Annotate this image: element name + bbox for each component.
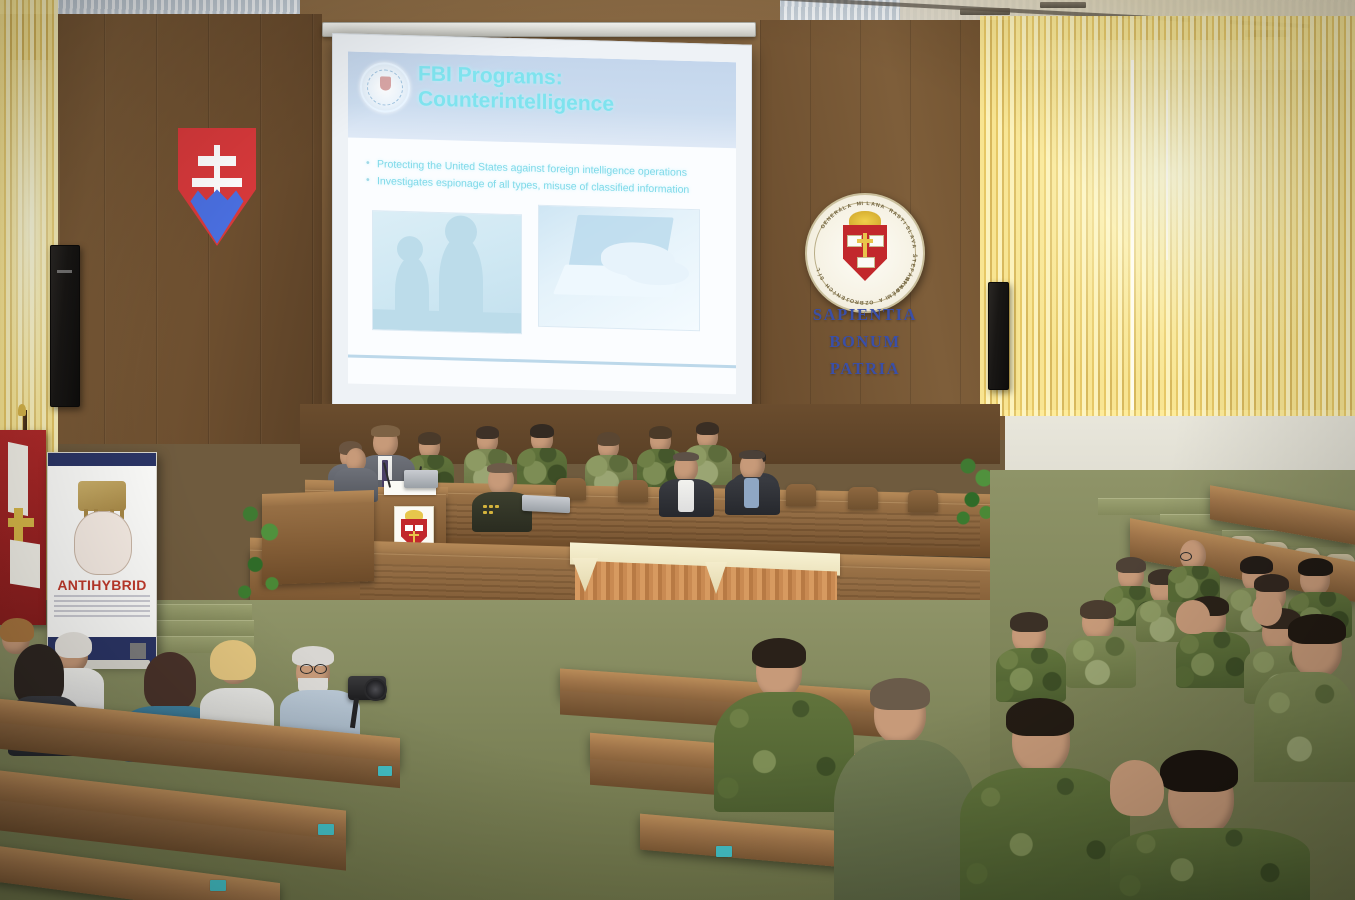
person-torso (1176, 632, 1250, 688)
blind-seam (1166, 90, 1168, 260)
seal-ring-text: AKADÉMIA OZBROJENÝCH SÍL (807, 195, 923, 311)
banner-subtext-lines (54, 595, 150, 617)
panel-chair[interactable] (848, 487, 878, 509)
person-hair (739, 450, 765, 459)
seat-number-tag (210, 880, 226, 891)
slide-image-meeting (372, 210, 522, 334)
person-hair (649, 426, 672, 439)
motto-line-3: PATRIA (785, 359, 945, 379)
podium-laptop[interactable] (404, 470, 438, 488)
slide-footer-rule (348, 354, 736, 368)
person-hair (597, 432, 620, 446)
person-torso (714, 692, 854, 812)
person-torso (960, 768, 1130, 900)
person-hair (870, 678, 930, 710)
slide-bullet-list: Protecting the United States against for… (364, 156, 724, 200)
person-hair (14, 644, 64, 704)
slide-image-laptop (538, 205, 700, 332)
soldier-head-illustration (74, 511, 132, 575)
panel-chair[interactable] (618, 480, 648, 502)
person-hair (1010, 612, 1048, 632)
person-torso (1110, 828, 1310, 900)
slovak-coat-of-arms (178, 128, 256, 246)
person-hand (1252, 594, 1282, 626)
person-hair (1298, 558, 1333, 576)
ivy-plant-left (236, 490, 284, 610)
uniform-medal (489, 511, 493, 514)
motto-line-1: SAPIENTIA (785, 305, 945, 325)
academy-motto: SAPIENTIA BONUM PATRIA (785, 305, 945, 379)
person-hair (55, 632, 92, 658)
uniform-medal (483, 505, 487, 508)
person-hair (1254, 574, 1289, 592)
person-hair (144, 652, 196, 710)
stair-step (156, 604, 252, 621)
person-hand (1176, 600, 1210, 634)
stair-step (1098, 498, 1218, 515)
person-hair (418, 432, 441, 445)
person-hair (673, 452, 699, 461)
antihybrid-banner: ANTIHYBRID (47, 452, 157, 664)
panel-chair[interactable] (908, 490, 938, 512)
person-torso (1066, 636, 1136, 688)
person-hair (1006, 698, 1074, 736)
person-hair (1116, 557, 1146, 573)
person-torso (1254, 672, 1355, 782)
academy-ceremonial-flag (0, 430, 46, 625)
speaker-brand-logo (57, 270, 72, 273)
ceiling-vent (960, 8, 1010, 15)
uniform-medal (483, 511, 487, 514)
person-torso (996, 648, 1066, 702)
uniform-medal (489, 505, 493, 508)
glasses-icon (1180, 552, 1192, 561)
wall-speaker-right (988, 282, 1009, 390)
motto-line-2: BONUM (785, 332, 945, 352)
person-hair (1160, 750, 1238, 792)
glasses-icon (300, 664, 313, 674)
person-hair (696, 422, 719, 435)
panel-chair[interactable] (786, 484, 816, 506)
person-hair (210, 640, 256, 680)
person-hand (1110, 760, 1164, 816)
ceiling-vent (1040, 2, 1086, 8)
slide-title: FBI Programs: Counterintelligence (418, 61, 728, 120)
person-hair (0, 618, 34, 642)
fbi-seal-icon (360, 62, 410, 113)
wall-speaker-left (50, 245, 80, 407)
person-hair (1240, 556, 1273, 574)
projection-screen: FBI Programs: Counterintelligence Protec… (332, 33, 752, 419)
banner-logo-block (130, 643, 146, 659)
seat-number-tag (318, 824, 334, 835)
person-hair (371, 425, 400, 437)
person-shirt (744, 478, 759, 508)
person-hair (1288, 614, 1346, 644)
person-hair (487, 463, 515, 473)
seat-number-tag (716, 846, 732, 857)
person-hair (476, 426, 499, 439)
person-hair (530, 424, 554, 438)
person-torso (834, 740, 974, 900)
dslr-camera[interactable] (348, 676, 386, 700)
banner-top-bar (48, 453, 156, 466)
person-hair (752, 638, 806, 668)
person-hair (1080, 600, 1116, 619)
seat-number-tag (378, 766, 392, 776)
presentation-slide: FBI Programs: Counterintelligence Protec… (348, 51, 736, 394)
trojan-horse-icon (78, 481, 126, 511)
uniform-medal (495, 505, 499, 508)
person-shirt (678, 480, 694, 512)
panel-laptop[interactable] (522, 495, 570, 514)
stair-step (150, 620, 254, 637)
blind-seam (1131, 60, 1134, 410)
window-light-glow (1000, 40, 1340, 380)
person-hair (292, 646, 334, 666)
glasses-icon (314, 664, 327, 674)
banner-title: ANTIHYBRID (48, 577, 156, 593)
flag-finial (18, 404, 26, 416)
academy-seal: GENERÁLA MILANA RASTISLAVA ŠTEFÁNIKAAKAD… (805, 193, 925, 313)
auditorium-photo: FBI Programs: Counterintelligence Protec… (0, 0, 1355, 900)
